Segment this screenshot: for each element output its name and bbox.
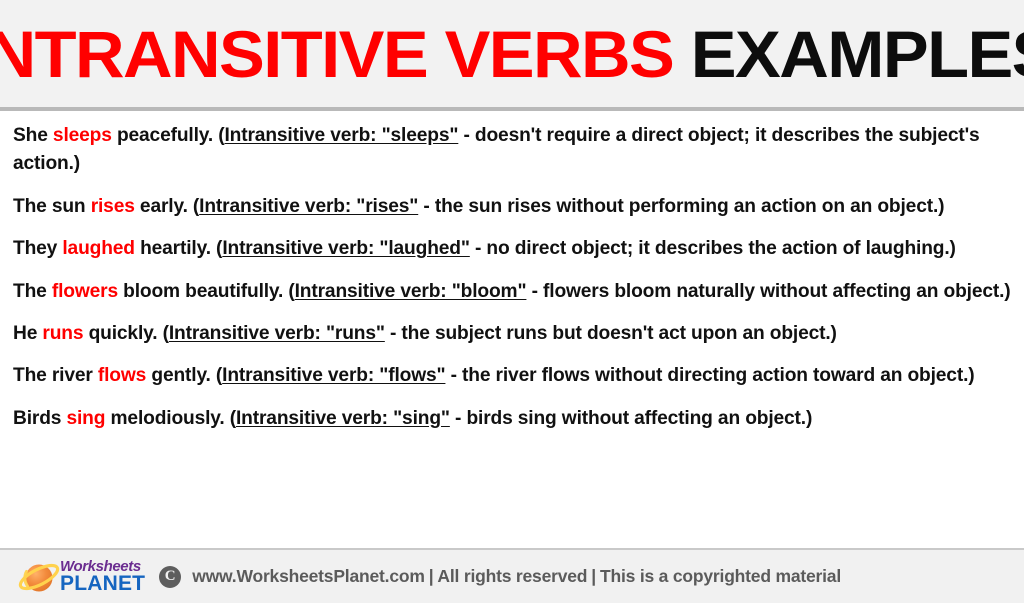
example-lead: He <box>13 323 42 344</box>
example-reference: Intransitive verb: "laughed" <box>222 238 470 259</box>
example-lead: The <box>13 281 52 302</box>
example-reference: Intransitive verb: "flows" <box>222 365 445 386</box>
example-item: They laughed heartily. (Intransitive ver… <box>13 235 1011 263</box>
example-tail: - birds sing without affecting an object… <box>450 408 812 429</box>
example-reference: Intransitive verb: "bloom" <box>295 281 527 302</box>
example-verb: laughed <box>62 238 135 259</box>
example-reference: Intransitive verb: "rises" <box>199 196 418 217</box>
example-verb: flowers <box>52 281 118 302</box>
footer-notice: This is a copyrighted material <box>600 566 841 586</box>
example-item: She sleeps peacefully. (Intransitive ver… <box>13 122 1011 179</box>
example-mid: peacefully. ( <box>112 125 225 146</box>
example-verb: sing <box>66 408 105 429</box>
example-verb: runs <box>42 323 83 344</box>
worksheet-page: INTRANSITIVE VERBS EXAMPLES She sleeps p… <box>0 0 1024 603</box>
example-lead: She <box>13 125 53 146</box>
example-item: The river flows gently. (Intransitive ve… <box>13 362 1011 390</box>
planet-icon <box>18 557 64 597</box>
example-mid: bloom beautifully. ( <box>118 281 295 302</box>
example-item: Birds sing melodiously. (Intransitive ve… <box>13 405 1011 433</box>
footer-rights: All rights reserved <box>437 566 587 586</box>
logo-word-planet: PLANET <box>60 574 145 594</box>
example-reference: Intransitive verb: "sing" <box>236 408 450 429</box>
page-title-red: INTRANSITIVE VERBS <box>0 17 673 91</box>
copyright-icon: C <box>159 566 181 588</box>
example-tail: - the subject runs but doesn't act upon … <box>385 323 837 344</box>
example-verb: flows <box>98 365 146 386</box>
example-item: The flowers bloom beautifully. (Intransi… <box>13 278 1011 306</box>
page-title: INTRANSITIVE VERBS EXAMPLES <box>0 21 1024 87</box>
page-footer: Worksheets PLANET C www.WorksheetsPlanet… <box>0 548 1024 603</box>
example-tail: - flowers bloom naturally without affect… <box>526 281 1010 302</box>
footer-website[interactable]: www.WorksheetsPlanet.com <box>192 566 425 586</box>
example-item: The sun rises early. (Intransitive verb:… <box>13 193 1011 221</box>
example-item: He runs quickly. (Intransitive verb: "ru… <box>13 320 1011 348</box>
footer-separator: | <box>429 566 434 586</box>
example-tail: - the river flows without directing acti… <box>445 365 974 386</box>
logo-wordmark: Worksheets PLANET <box>60 560 145 594</box>
example-mid: early. ( <box>135 196 199 217</box>
example-reference: Intransitive verb: "sleeps" <box>224 125 458 146</box>
example-tail: - the sun rises without performing an ac… <box>418 196 944 217</box>
example-lead: The sun <box>13 196 91 217</box>
example-verb: rises <box>91 196 135 217</box>
example-lead: Birds <box>13 408 66 429</box>
example-reference: Intransitive verb: "runs" <box>169 323 385 344</box>
example-mid: heartily. ( <box>135 238 222 259</box>
example-mid: gently. ( <box>146 365 222 386</box>
footer-separator: | <box>591 566 596 586</box>
example-lead: They <box>13 238 62 259</box>
example-mid: melodiously. ( <box>105 408 236 429</box>
examples-list: She sleeps peacefully. (Intransitive ver… <box>0 111 1024 548</box>
example-verb: sleeps <box>53 125 112 146</box>
example-lead: The river <box>13 365 98 386</box>
worksheets-planet-logo[interactable]: Worksheets PLANET <box>18 557 145 597</box>
page-title-black: EXAMPLES <box>690 17 1024 91</box>
footer-credits: www.WorksheetsPlanet.com|All rights rese… <box>192 566 841 587</box>
page-header: INTRANSITIVE VERBS EXAMPLES <box>0 0 1024 107</box>
example-tail: - no direct object; it describes the act… <box>470 238 956 259</box>
example-mid: quickly. ( <box>83 323 168 344</box>
